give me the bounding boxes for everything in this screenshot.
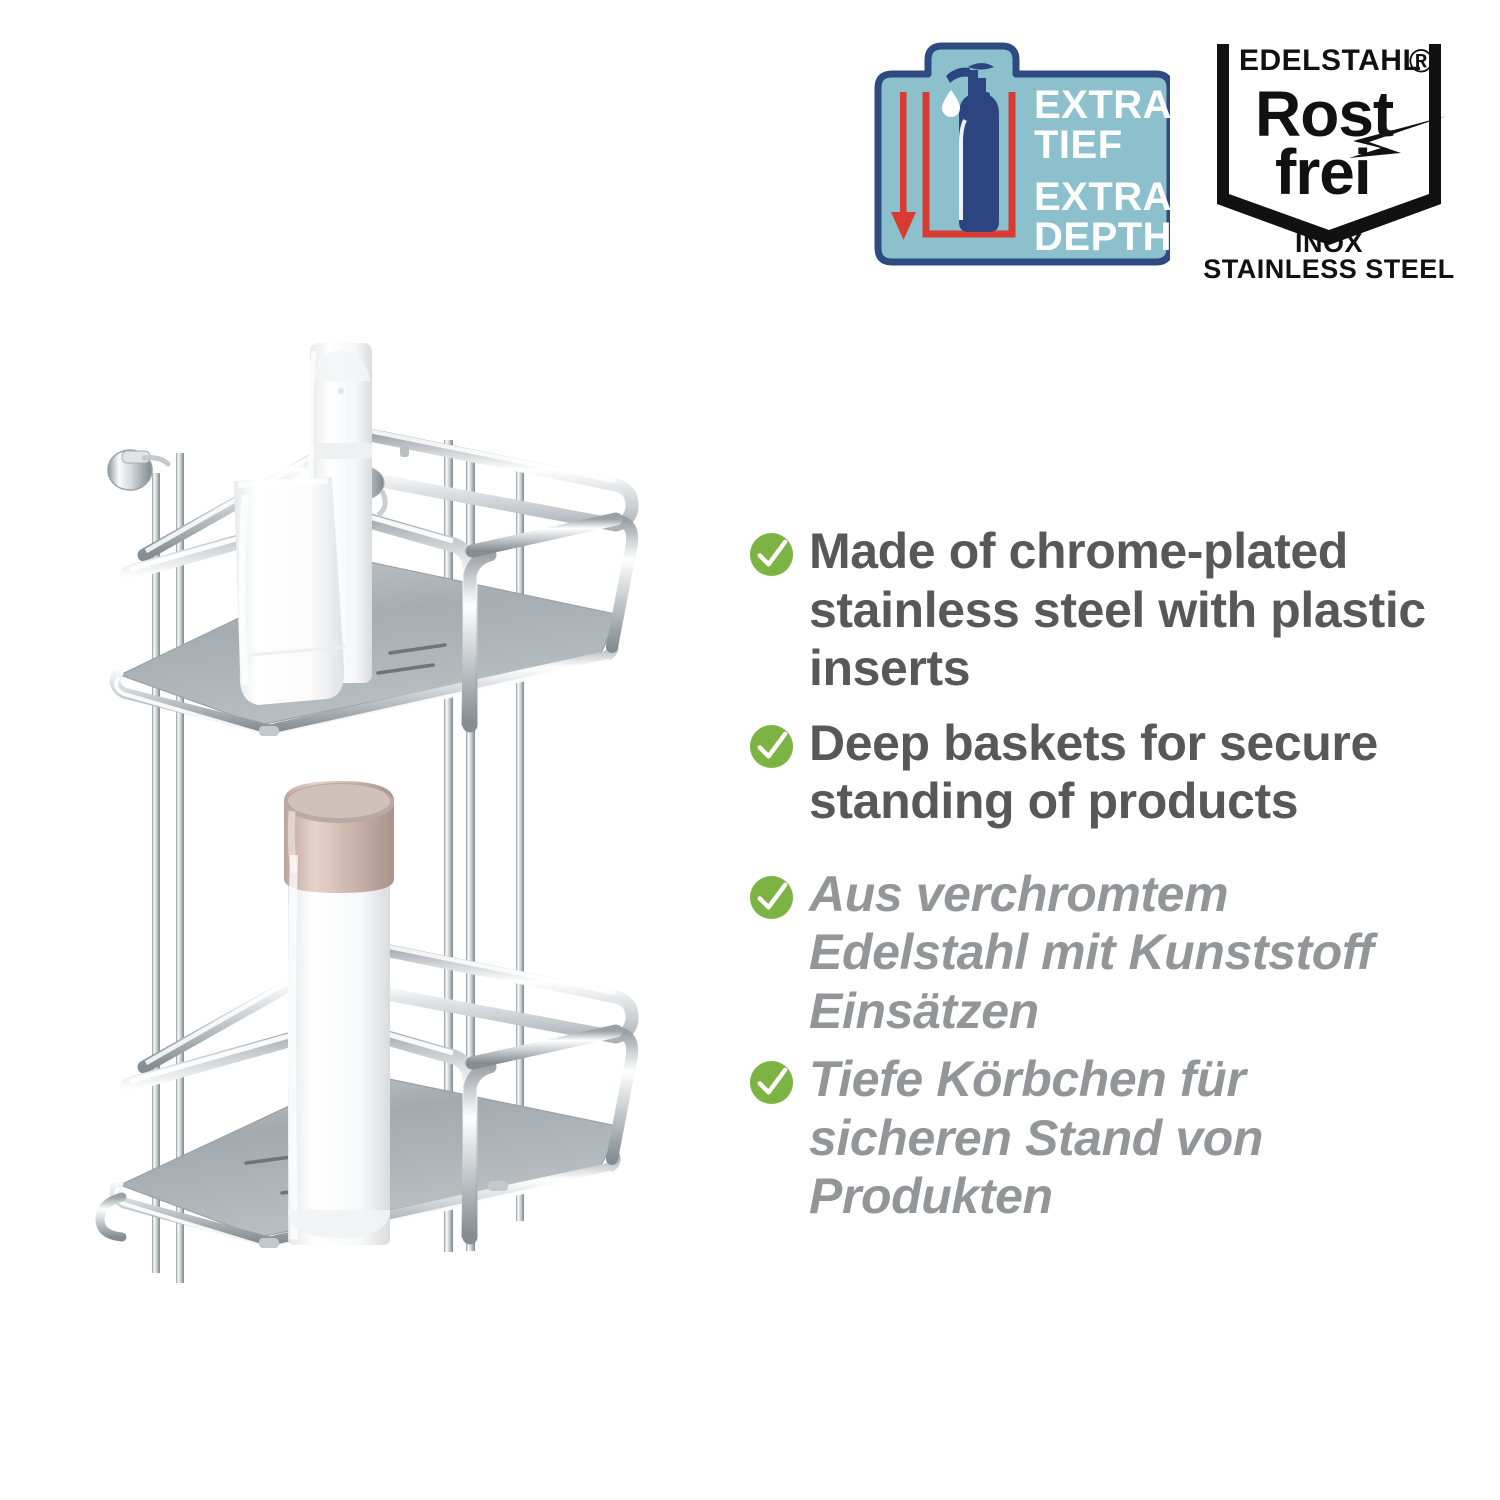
shield-word-frei: frei: [1275, 136, 1371, 208]
list-item: Tiefe Körbchen für sicheren Stand von Pr…: [748, 1050, 1468, 1226]
product-feature-page: EXTRA TIEF EXTRA DEPTH EDELSTAHL ® Rost …: [0, 0, 1500, 1500]
feature-text-en-2: Deep baskets for secure standing of prod…: [809, 714, 1459, 831]
product-image-corner-shelf: [60, 255, 740, 1325]
list-item: Aus verchromtem Edelstahl mit Kunststoff…: [748, 865, 1468, 1041]
white-cream-tube: [234, 477, 346, 705]
badge-line-extra-en: EXTRA: [1034, 175, 1170, 219]
check-circle-icon: [748, 723, 795, 770]
feature-list-german: Aus verchromtem Edelstahl mit Kunststoff…: [748, 865, 1468, 1226]
check-circle-icon: [748, 874, 795, 921]
feature-bullet-list: Made of chrome-plated stainless steel wi…: [748, 522, 1468, 1236]
badge-line-tief: TIEF: [1034, 123, 1123, 167]
check-circle-icon: [748, 1059, 795, 1106]
list-item: Made of chrome-plated stainless steel wi…: [748, 522, 1468, 698]
feature-list-english: Made of chrome-plated stainless steel wi…: [748, 522, 1468, 831]
white-lotion-bottle: [284, 781, 394, 1245]
feature-text-de-1: Aus verchromtem Edelstahl mit Kunststoff…: [809, 865, 1459, 1041]
upper-shelf-basket: [115, 429, 632, 736]
badge-line-depth: DEPTH: [1034, 215, 1170, 259]
feature-text-en-1: Made of chrome-plated stainless steel wi…: [809, 522, 1459, 698]
check-circle-icon: [748, 531, 795, 578]
feature-text-de-2: Tiefe Körbchen für sicheren Stand von Pr…: [809, 1050, 1459, 1226]
rostfrei-stainless-badge: EDELSTAHL ® Rost frei INOX STAINLESS STE…: [1203, 28, 1455, 280]
badge-line-extra-de: EXTRA: [1034, 83, 1170, 127]
shield-stainless-label: STAINLESS STEEL: [1203, 254, 1455, 280]
list-item: Deep baskets for secure standing of prod…: [748, 714, 1468, 831]
registered-mark-icon: ®: [1409, 42, 1433, 79]
shield-edelstahl-label: EDELSTAHL: [1239, 44, 1421, 77]
extra-depth-badge: EXTRA TIEF EXTRA DEPTH: [864, 40, 1170, 275]
